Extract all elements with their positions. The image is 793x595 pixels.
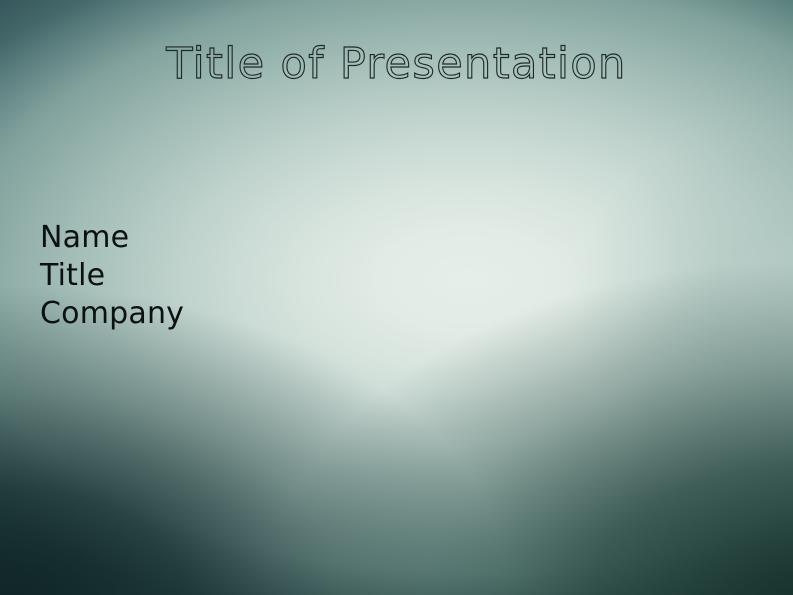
- slide-title[interactable]: Title of Presentation: [166, 42, 626, 88]
- subtitle-line-title[interactable]: Title: [40, 257, 184, 295]
- title-placeholder[interactable]: Title of Presentation: [0, 42, 793, 88]
- subtitle-line-company[interactable]: Company: [40, 295, 184, 333]
- presentation-slide: Title of Presentation Name Title Company: [0, 0, 793, 595]
- subtitle-placeholder[interactable]: Name Title Company: [40, 219, 184, 333]
- subtitle-line-name[interactable]: Name: [40, 219, 184, 257]
